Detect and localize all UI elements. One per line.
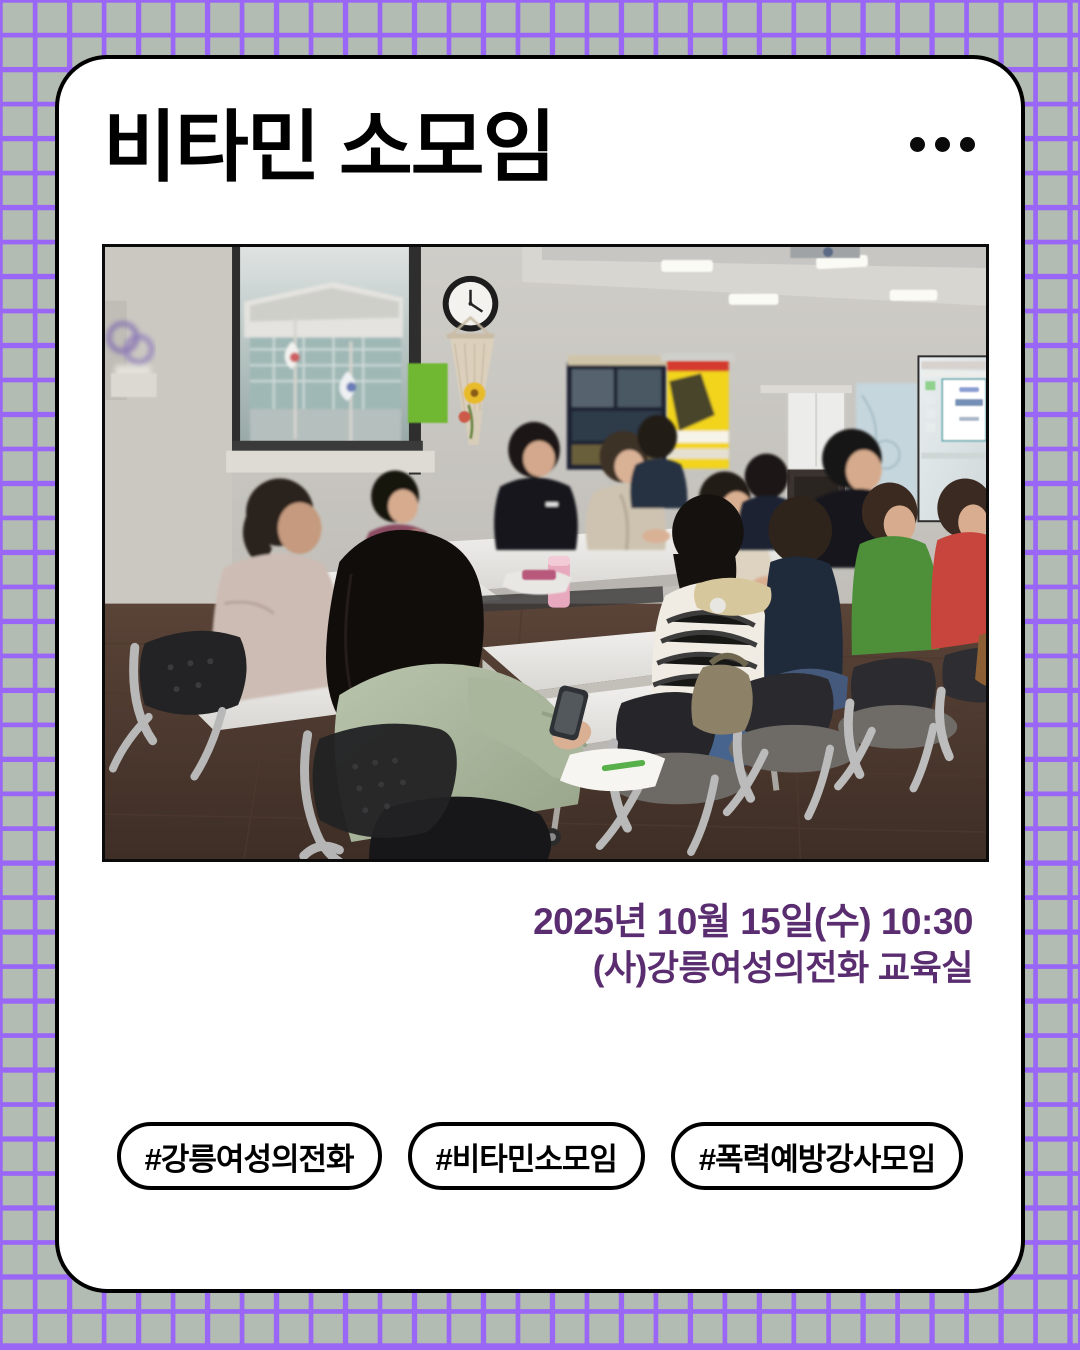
event-caption: 2025년 10월 15일(수) 10:30 (사)강릉여성의전화 교육실 bbox=[253, 901, 973, 990]
hashtag-list: #강릉여성의전화 #비타민소모임 #폭력예방강사모임 bbox=[59, 1122, 1021, 1190]
event-photo bbox=[105, 247, 986, 859]
ellipsis-dot-3 bbox=[960, 137, 975, 152]
hashtag-pill-1[interactable]: #강릉여성의전화 bbox=[117, 1122, 382, 1190]
event-datetime: 2025년 10월 15일(수) 10:30 bbox=[253, 901, 973, 944]
page-title: 비타민 소모임 bbox=[103, 108, 554, 186]
content-card: 비타민 소모임 bbox=[55, 55, 1025, 1293]
ellipsis-horizontal-icon[interactable] bbox=[910, 137, 975, 156]
event-photo-frame bbox=[102, 244, 989, 862]
ellipsis-dot-2 bbox=[935, 137, 950, 152]
poster-page: 비타민 소모임 bbox=[0, 0, 1080, 1350]
ellipsis-dot-1 bbox=[910, 137, 925, 152]
event-location: (사)강릉여성의전화 교육실 bbox=[253, 948, 973, 990]
card-header: 비타민 소모임 bbox=[59, 59, 1021, 234]
hashtag-pill-2[interactable]: #비타민소모임 bbox=[408, 1122, 645, 1190]
hashtag-pill-3[interactable]: #폭력예방강사모임 bbox=[671, 1122, 963, 1190]
